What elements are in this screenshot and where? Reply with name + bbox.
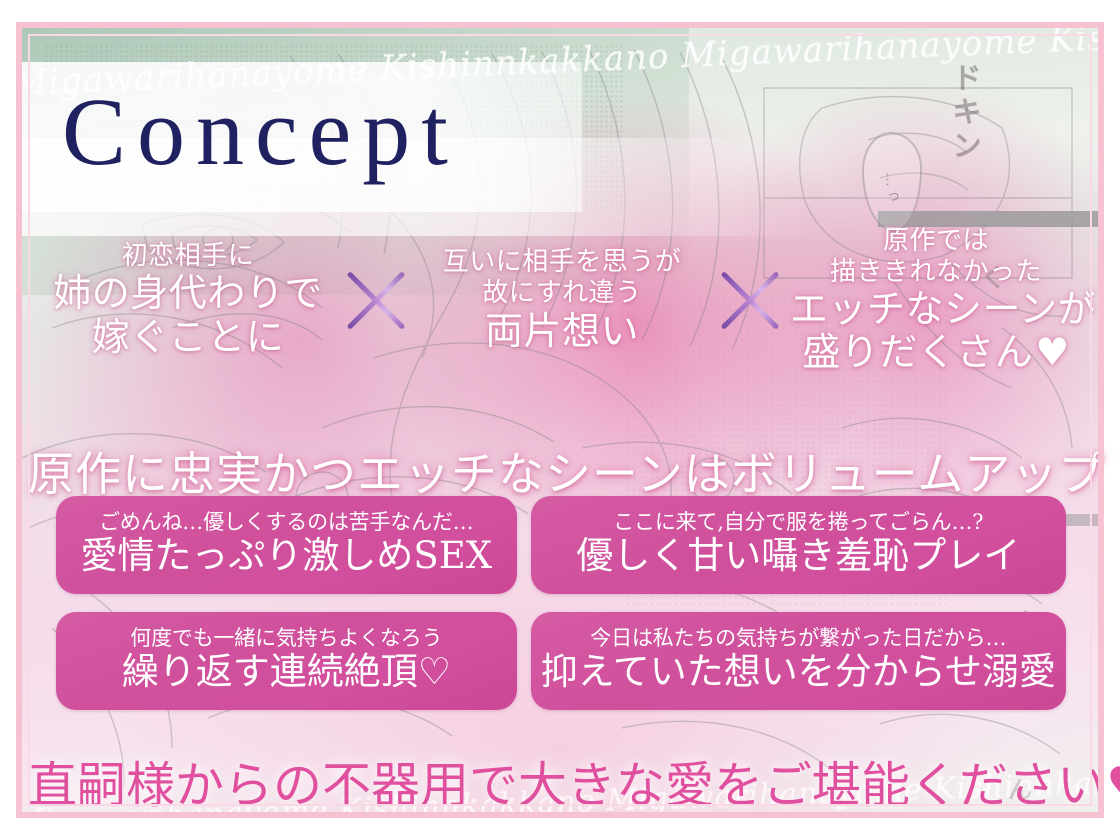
concept-promo-card: Migawarihanayome Kishinnkakkano Migawari…	[0, 0, 1120, 840]
content-layer: Concept 初恋相手に 姉の身代わりで 嫁ぐことに 互いに相手を思うが 故に…	[28, 28, 1098, 812]
concept-3-subtitle-2: 描ききれなかった	[790, 257, 1082, 288]
feature-1-quote: ごめんね…優しくするのは苦手なんだ…	[66, 511, 507, 534]
feature-box-2: ここに来て,自分で服を捲ってごらん…? 優しく甘い囁き羞恥プレイ	[531, 496, 1066, 594]
feature-2-quote: ここに来て,自分で服を捲ってごらん…?	[541, 511, 1056, 534]
concept-3-subtitle-1: 原作では	[790, 226, 1082, 257]
feature-box-4: 今日は私たちの気持ちが繋がった日だから… 抑えていた想いを分からせ溺愛	[531, 612, 1066, 710]
concept-3-line-2: 盛りだくさん	[790, 331, 1082, 374]
x-cross-icon-2	[713, 264, 785, 336]
feature-1-title: 愛情たっぷり激しめSEX	[66, 535, 507, 576]
closing-line: 直嗣様からの不器用で大きな愛をご堪能ください♥	[28, 746, 1088, 817]
concept-2-subtitle-2: 故にすれ違う	[416, 278, 708, 309]
concept-1-line-2: 嫁ぐことに	[42, 316, 334, 359]
concept-2-subtitle-1: 互いに相手を思うが	[416, 247, 708, 278]
feature-box-grid: ごめんね…優しくするのは苦手なんだ… 愛情たっぷり激しめSEX ここに来て,自分…	[56, 496, 1066, 710]
feature-3-quote: 何度でも一緒に気持ちよくなろう	[66, 627, 507, 650]
concept-3-line-1: エッチなシーンが	[790, 288, 1082, 331]
concept-1-line-1: 姉の身代わりで	[42, 272, 334, 315]
concept-columns: 初恋相手に 姉の身代わりで 嫁ぐことに 互いに相手を思うが 故にすれ違う 両片想…	[42, 224, 1082, 376]
concept-1-subtitle: 初恋相手に	[42, 241, 334, 272]
feature-box-3: 何度でも一緒に気持ちよくなろう 繰り返す連続絶頂♡	[56, 612, 517, 710]
concept-column-3: 原作では 描ききれなかった エッチなシーンが 盛りだくさん	[790, 226, 1082, 375]
page-title: Concept	[62, 84, 459, 180]
feature-2-title: 優しく甘い囁き羞恥プレイ	[541, 535, 1056, 576]
feature-4-title: 抑えていた想いを分からせ溺愛	[541, 651, 1056, 692]
concept-column-1: 初恋相手に 姉の身代わりで 嫁ぐことに	[42, 241, 334, 359]
feature-box-1: ごめんね…優しくするのは苦手なんだ… 愛情たっぷり激しめSEX	[56, 496, 517, 594]
concept-2-line-1: 両片想い	[416, 310, 708, 353]
headline-banner: 原作に忠実かつエッチなシーンはボリュームアップ	[28, 438, 1088, 504]
feature-4-quote: 今日は私たちの気持ちが繋がった日だから…	[541, 627, 1056, 650]
feature-3-title: 繰り返す連続絶頂♡	[66, 651, 507, 692]
x-cross-icon-1	[339, 264, 411, 336]
concept-column-2: 互いに相手を思うが 故にすれ違う 両片想い	[416, 247, 708, 353]
